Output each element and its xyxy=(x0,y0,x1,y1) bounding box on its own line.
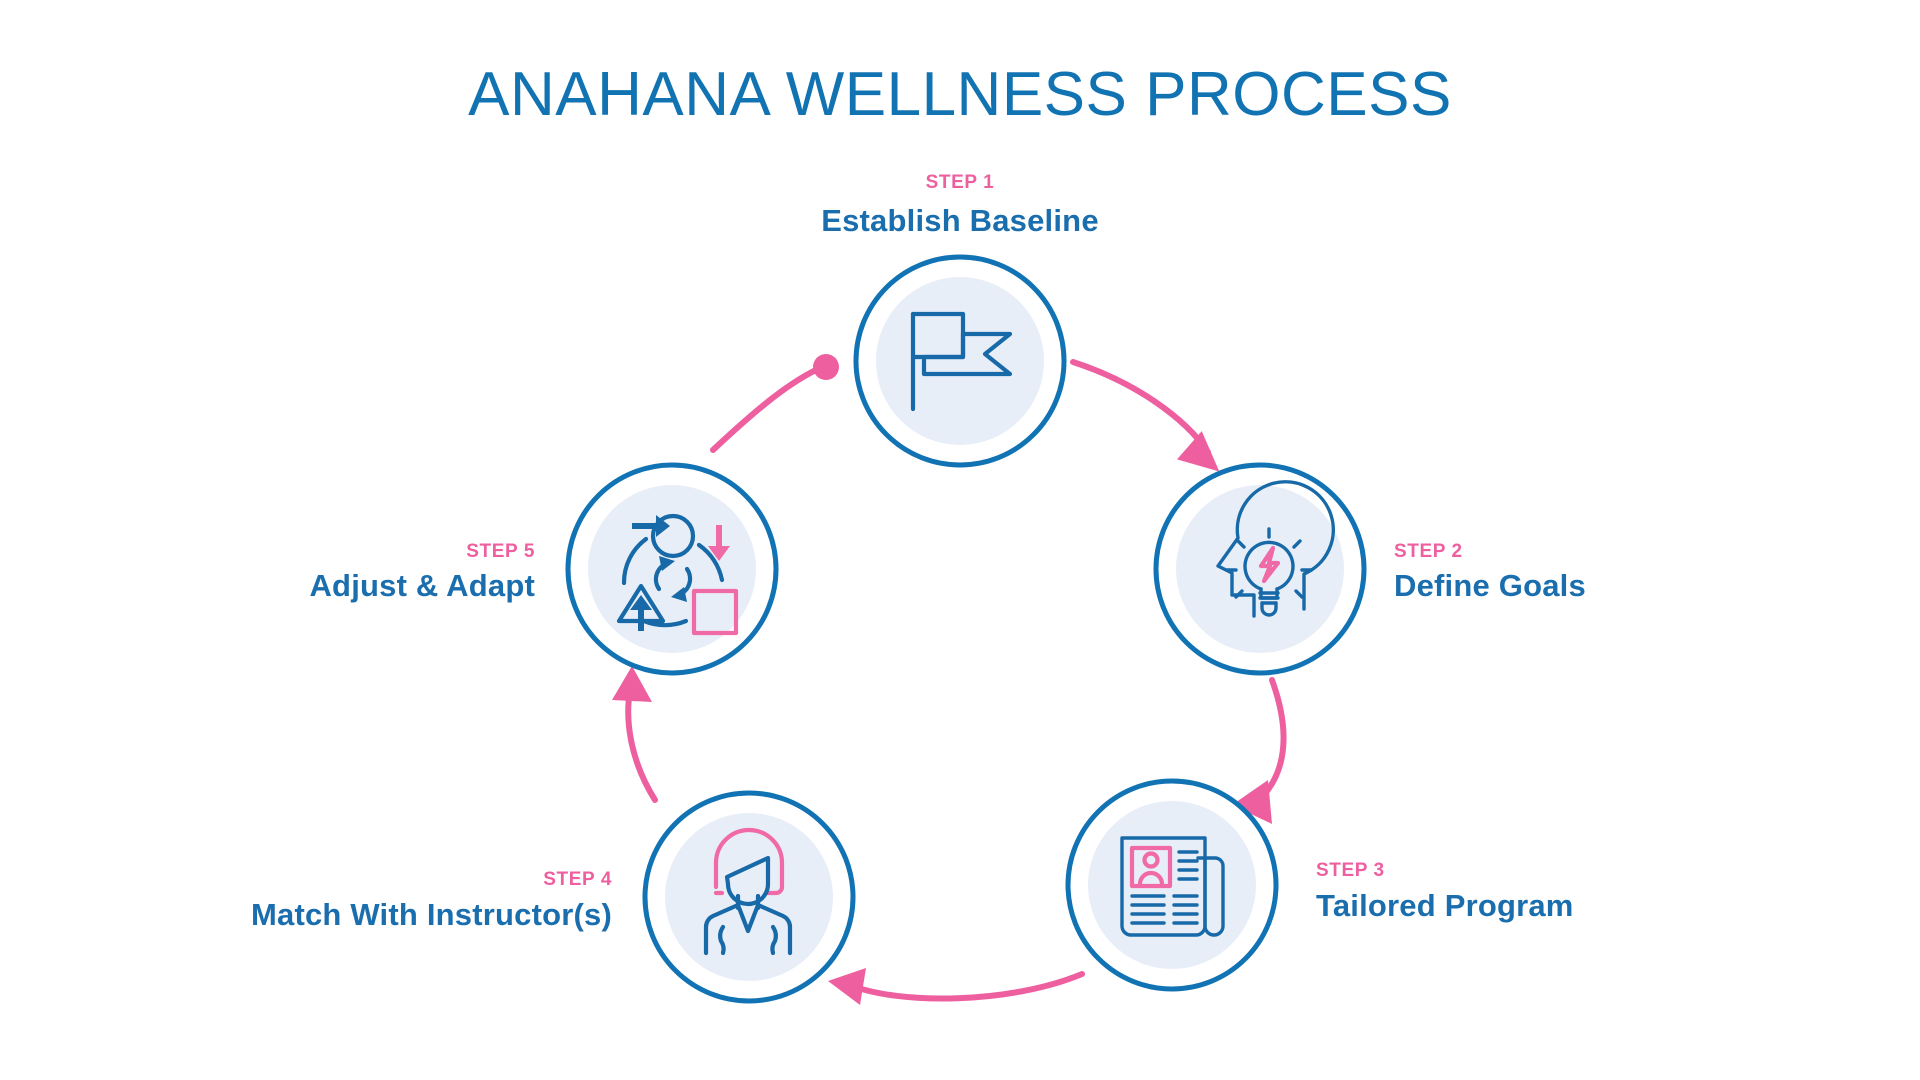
connector-step1-step2 xyxy=(1073,362,1229,472)
connector-step2-step3 xyxy=(1232,680,1284,824)
connector-path xyxy=(1073,362,1208,452)
step-label-3: Tailored Program xyxy=(1316,888,1574,923)
step-kicker-1: STEP 1 xyxy=(926,172,995,193)
connector-path xyxy=(1259,680,1284,800)
step-label-2: Define Goals xyxy=(1394,568,1586,603)
step-kicker-3: STEP 3 xyxy=(1316,860,1385,881)
arrow-head-icon xyxy=(1177,427,1229,472)
connector-step5-step1 xyxy=(713,354,839,450)
step-circle-fill xyxy=(665,813,833,981)
page-title: ANAHANA WELLNESS PROCESS xyxy=(468,60,1452,129)
step-kicker-5: STEP 5 xyxy=(466,541,535,562)
step-node-4[interactable]: STEP 4 Match With Instructor(s) xyxy=(251,793,853,1001)
step-node-1[interactable]: STEP 1 Establish Baseline xyxy=(821,172,1099,465)
step-circle-fill xyxy=(876,277,1044,445)
step-circle-fill xyxy=(1176,485,1344,653)
step-kicker-4: STEP 4 xyxy=(543,869,612,890)
connector-end-dot xyxy=(813,354,839,380)
step-node-3[interactable]: STEP 3 Tailored Program xyxy=(1068,781,1574,989)
diagram-canvas: ANAHANA WELLNESS PROCESS xyxy=(0,0,1920,1080)
connector-step3-step4 xyxy=(828,968,1082,1005)
wellness-process-diagram: ANAHANA WELLNESS PROCESS xyxy=(0,0,1920,1080)
step-node-5[interactable]: STEP 5 Adjust & Adapt xyxy=(309,465,776,673)
connector-path xyxy=(713,368,820,450)
connector-path xyxy=(850,974,1082,999)
step-label-1: Establish Baseline xyxy=(821,203,1099,238)
step-node-2[interactable]: STEP 2 Define Goals xyxy=(1156,465,1586,673)
connector-step4-step5 xyxy=(612,666,655,800)
connector-path xyxy=(628,690,655,800)
arrow-head-icon xyxy=(828,968,866,1005)
step-label-5: Adjust & Adapt xyxy=(309,568,535,603)
step-circle-fill xyxy=(588,485,756,653)
step-label-4: Match With Instructor(s) xyxy=(251,897,612,932)
step-kicker-2: STEP 2 xyxy=(1394,541,1463,562)
